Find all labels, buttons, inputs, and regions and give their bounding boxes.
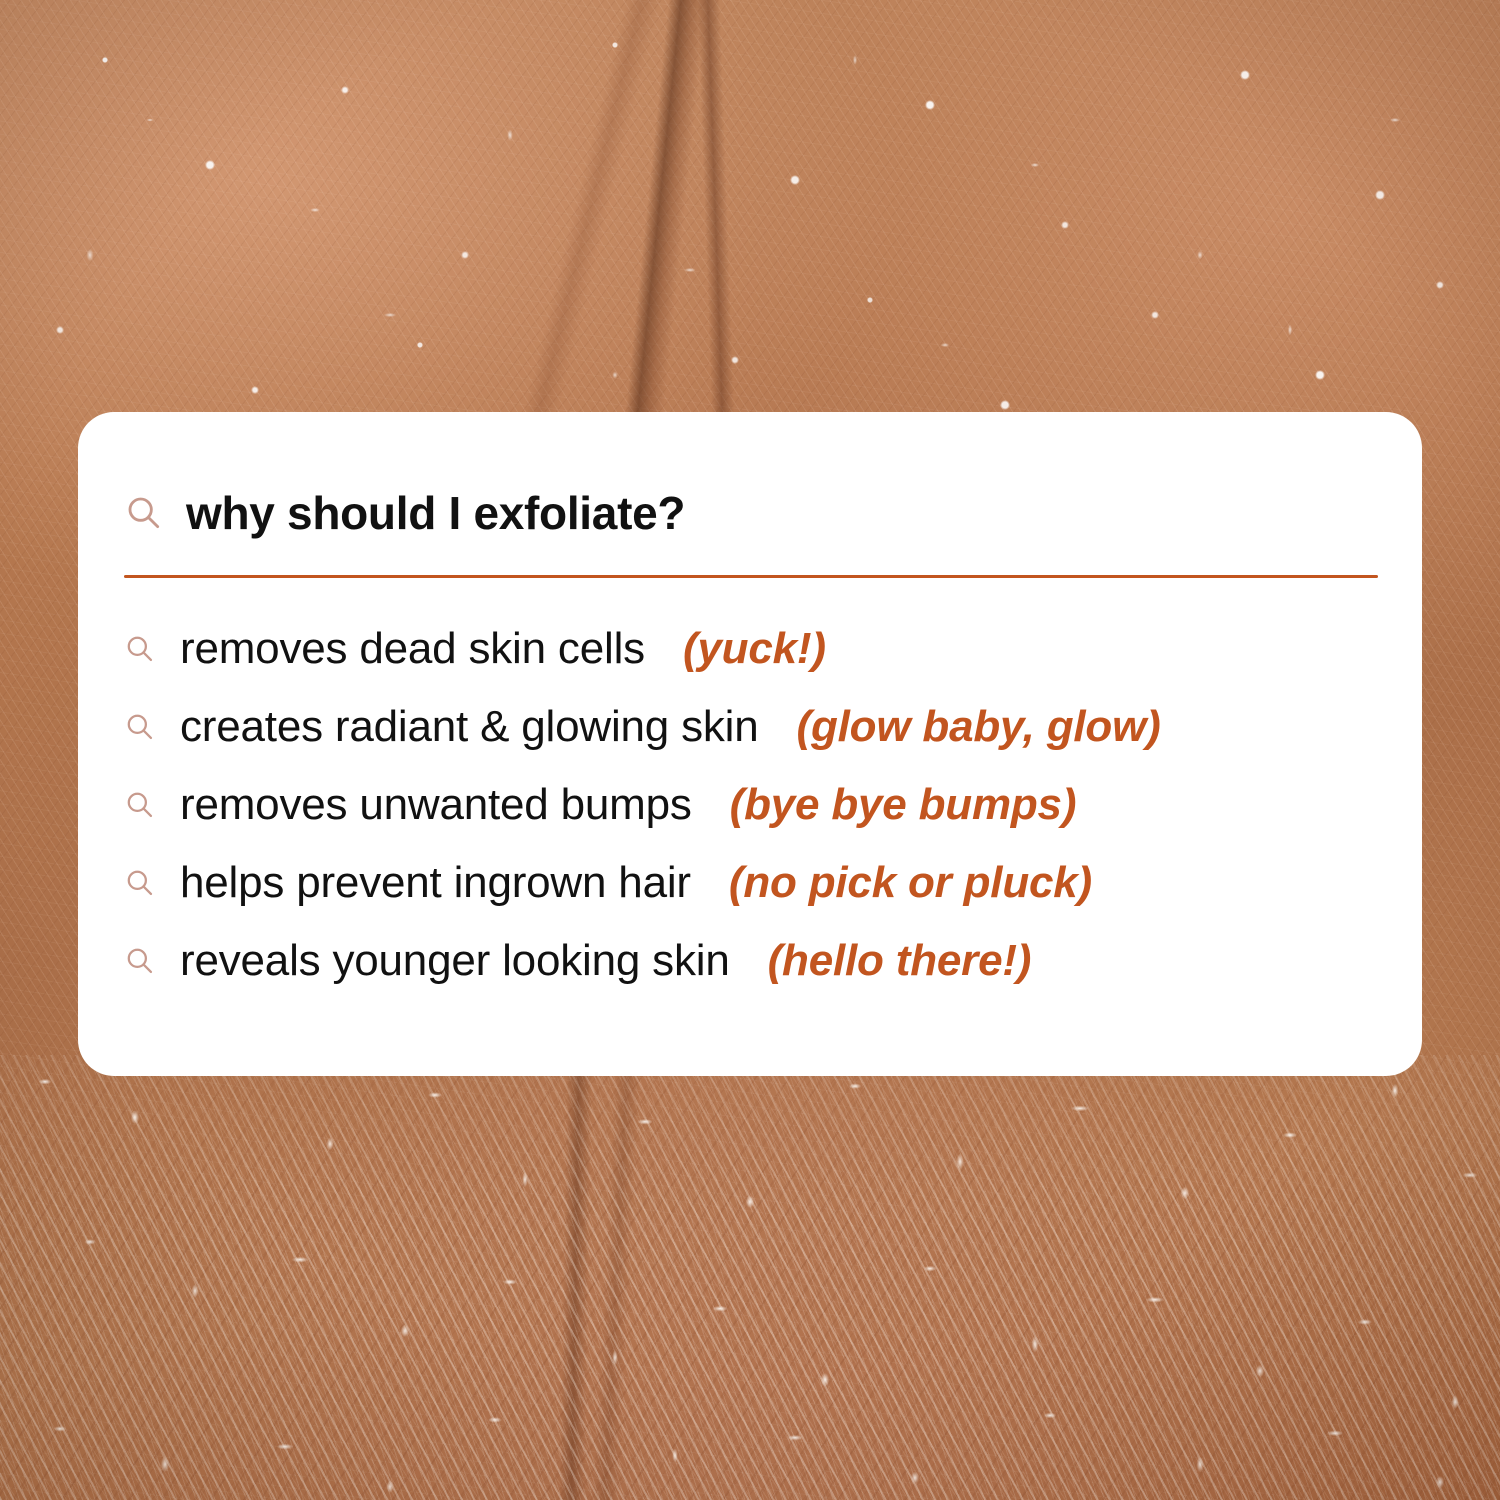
- search-icon: [124, 945, 156, 977]
- list-item-label: helps prevent ingrown hair: [180, 861, 691, 905]
- list-item-label: reveals younger looking skin: [180, 939, 730, 983]
- list-item-note: (yuck!): [683, 627, 826, 671]
- list-item-label: removes unwanted bumps: [180, 783, 692, 827]
- search-icon: [124, 493, 164, 533]
- list-item-label: creates radiant & glowing skin: [180, 705, 759, 749]
- header-divider: [124, 575, 1378, 578]
- search-icon: [124, 867, 156, 899]
- search-icon: [124, 789, 156, 821]
- list-item-note: (no pick or pluck): [729, 861, 1092, 905]
- list-item: removes dead skin cells (yuck!): [124, 610, 1384, 688]
- faq-card: why should I exfoliate? removes dead ski…: [78, 412, 1422, 1076]
- list-item: reveals younger looking skin (hello ther…: [124, 922, 1384, 1000]
- search-icon: [124, 711, 156, 743]
- search-icon: [124, 633, 156, 665]
- list-item: creates radiant & glowing skin (glow bab…: [124, 688, 1384, 766]
- list-item: removes unwanted bumps (bye bye bumps): [124, 766, 1384, 844]
- page-title: why should I exfoliate?: [186, 490, 685, 536]
- list-item-note: (hello there!): [768, 939, 1032, 983]
- list-item-note: (bye bye bumps): [730, 783, 1077, 827]
- benefit-list: removes dead skin cells (yuck!) creates …: [124, 610, 1384, 1000]
- list-item-label: removes dead skin cells: [180, 627, 645, 671]
- faq-card-header: why should I exfoliate?: [124, 490, 685, 536]
- list-item-note: (glow baby, glow): [797, 705, 1161, 749]
- list-item: helps prevent ingrown hair (no pick or p…: [124, 844, 1384, 922]
- product-infographic: why should I exfoliate? removes dead ski…: [0, 0, 1500, 1500]
